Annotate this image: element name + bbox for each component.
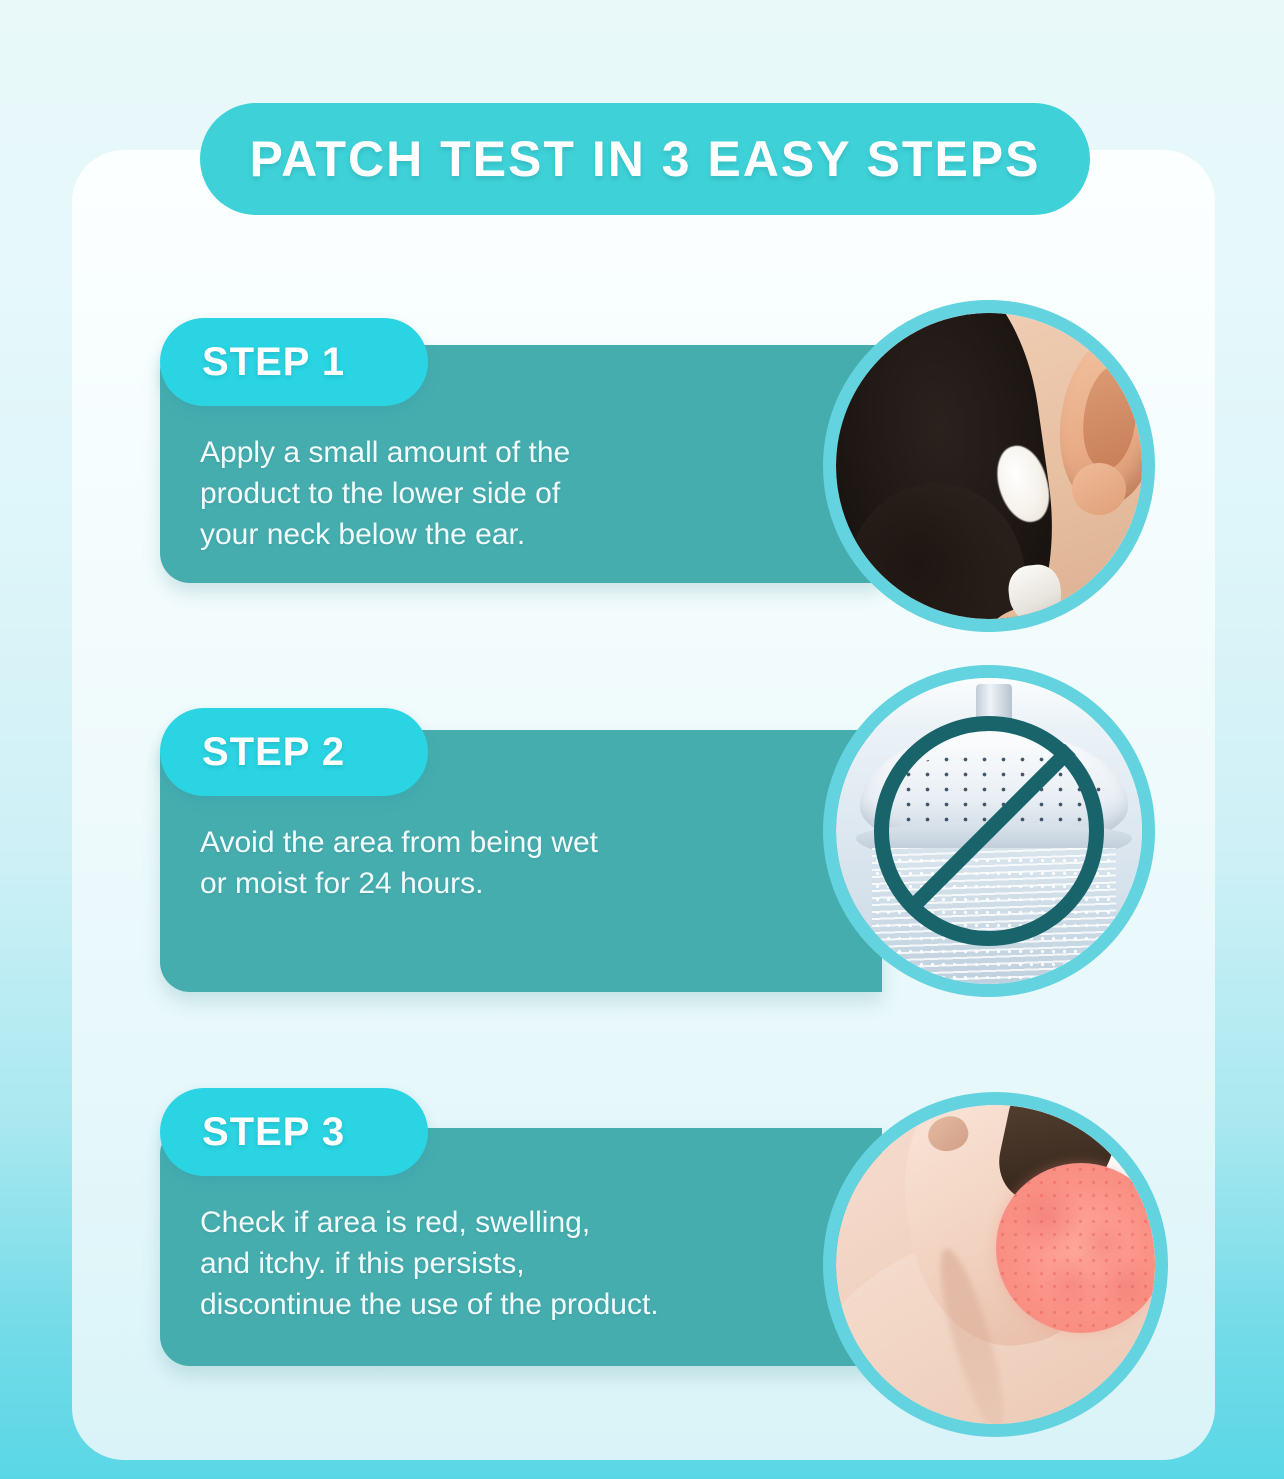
page-title: PATCH TEST IN 3 EASY STEPS <box>249 130 1040 188</box>
step-1-badge-label: STEP 1 <box>160 340 345 385</box>
ear-cream-application-photo <box>836 313 1142 619</box>
step-1-photo <box>823 300 1155 632</box>
patch-test-infographic: PATCH TEST IN 3 EASY STEPS STEP 1 Apply … <box>0 0 1284 1479</box>
step-2-photo <box>823 665 1155 997</box>
no-shower-water-photo <box>836 678 1142 984</box>
step-2-badge-label: STEP 2 <box>160 730 345 775</box>
step-2-badge: STEP 2 <box>160 708 428 796</box>
step-1-description: Apply a small amount of the product to t… <box>200 432 760 555</box>
red-irritated-skin-photo <box>836 1105 1155 1424</box>
step-2-description: Avoid the area from being wet or moist f… <box>200 822 780 904</box>
step-row-1: STEP 1 Apply a small amount of the produ… <box>0 310 1284 650</box>
rash-speckles <box>996 1163 1155 1333</box>
step-3-description: Check if area is red, swelling, and itch… <box>200 1202 840 1325</box>
step-3-photo <box>823 1092 1168 1437</box>
step-row-2: STEP 2 Avoid the area from being wet or … <box>0 700 1284 1030</box>
irritated-skin-magnifier <box>996 1163 1155 1333</box>
step-3-badge: STEP 3 <box>160 1088 428 1176</box>
step-row-3: STEP 3 Check if area is red, swelling, a… <box>0 1080 1284 1425</box>
step-1-badge: STEP 1 <box>160 318 428 406</box>
step-3-badge-label: STEP 3 <box>160 1110 345 1155</box>
title-banner: PATCH TEST IN 3 EASY STEPS <box>200 103 1090 215</box>
ear-lobe <box>1072 463 1126 515</box>
